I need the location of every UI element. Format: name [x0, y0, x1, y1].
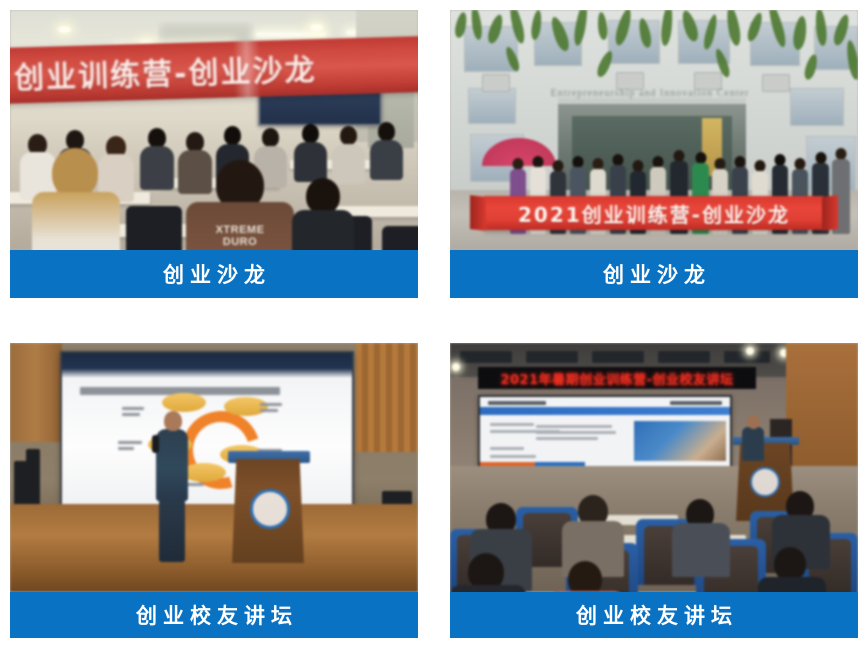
photo-group[interactable]: Entrepreneurship and Innovation Center [450, 10, 858, 250]
gallery-card-1[interactable]: 创业训练营-创业沙龙 [10, 10, 418, 298]
caption-bar-4: 创业校友讲坛 [450, 592, 858, 638]
stage-floor [10, 504, 418, 592]
stage-left-wood-wall [10, 343, 62, 442]
caption-text-4: 创业校友讲坛 [570, 600, 738, 630]
gallery-card-3[interactable]: 创业校友讲坛 [10, 343, 418, 638]
photo-stage-speech[interactable] [10, 343, 418, 592]
caption-text-1: 创业沙龙 [157, 259, 271, 289]
caption-bar-3: 创业校友讲坛 [10, 592, 418, 638]
caption-bar-2: 创业沙龙 [450, 250, 858, 298]
podium-emblem-icon [750, 467, 780, 497]
light-tube-icon [256, 32, 326, 37]
group-red-banner: 2021创业训练营-创业沙龙 [484, 196, 824, 230]
led-banner: 2021年暑期创业训练营-创业校友讲坛 [478, 367, 756, 389]
presentation-screen [478, 395, 732, 471]
downlight-icon [310, 24, 323, 31]
gallery-card-4[interactable]: 2021年暑期创业训练营-创业校友讲坛 [450, 343, 858, 638]
auditorium-wood-wall [786, 343, 858, 476]
caption-bar-1: 创业沙龙 [10, 250, 418, 298]
stage-right-wood-wall [356, 343, 418, 452]
red-banner: 创业训练营-创业沙龙 [10, 36, 418, 104]
downlight-icon [58, 26, 71, 33]
presentation-screen [60, 351, 354, 511]
gallery-card-2[interactable]: Entrepreneurship and Innovation Center [450, 10, 858, 298]
photo-classroom[interactable]: 创业训练营-创业沙龙 [10, 10, 418, 250]
caption-text-2: 创业沙龙 [597, 259, 711, 289]
led-banner-text: 2021年暑期创业训练营-创业校友讲坛 [500, 369, 733, 388]
photo-gallery: 创业训练营-创业沙龙 [0, 0, 868, 648]
red-banner-text: 创业训练营-创业沙龙 [10, 36, 418, 104]
presenter-person [742, 427, 764, 461]
photo-auditorium[interactable]: 2021年暑期创业训练营-创业校友讲坛 [450, 343, 858, 592]
building-sign-text: Entrepreneurship and Innovation Center [550, 88, 750, 102]
podium-emblem-icon [250, 489, 290, 529]
group-banner-text: 2021创业训练营-创业沙龙 [518, 199, 790, 228]
caption-text-3: 创业校友讲坛 [130, 600, 298, 630]
speaker-person [156, 429, 188, 501]
